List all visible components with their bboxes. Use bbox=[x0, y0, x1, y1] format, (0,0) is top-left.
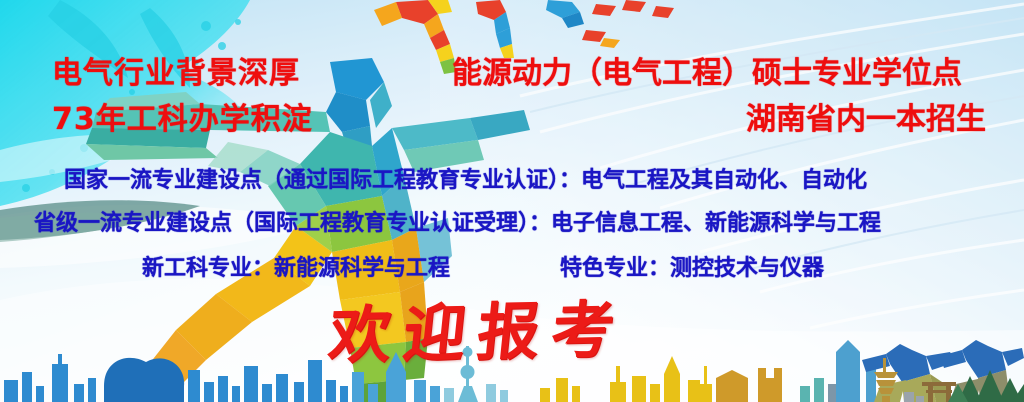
headline-red-masters-degree-program: 能源动力（电气工程）硕士专业学位点 bbox=[452, 48, 962, 92]
line-featured-major: 特色专业：测控技术与仪器 bbox=[560, 250, 824, 282]
line-provincial-first-class-major: 省级一流专业建设点（国际工程教育专业认证受理）：电子信息工程、新能源科学与工程 bbox=[34, 205, 881, 237]
headline-red-73-years: 73年工科办学积淀 bbox=[52, 94, 313, 138]
headline-red-hunan-first-tier-admission: 湖南省内一本招生 bbox=[746, 94, 986, 138]
headline-red-electrical-background: 电气行业背景深厚 bbox=[52, 48, 300, 92]
line-national-first-class-major: 国家一流专业建设点（通过国际工程教育专业认证）：电气工程及其自动化、自动化 bbox=[64, 162, 867, 194]
admissions-banner: 电气行业背景深厚 73年工科办学积淀 能源动力（电气工程）硕士专业学位点 湖南省… bbox=[0, 0, 1024, 402]
slogan-welcome-to-apply: 欢迎报考 bbox=[325, 279, 631, 375]
line-new-engineering-major: 新工科专业：新能源科学与工程 bbox=[142, 250, 450, 282]
